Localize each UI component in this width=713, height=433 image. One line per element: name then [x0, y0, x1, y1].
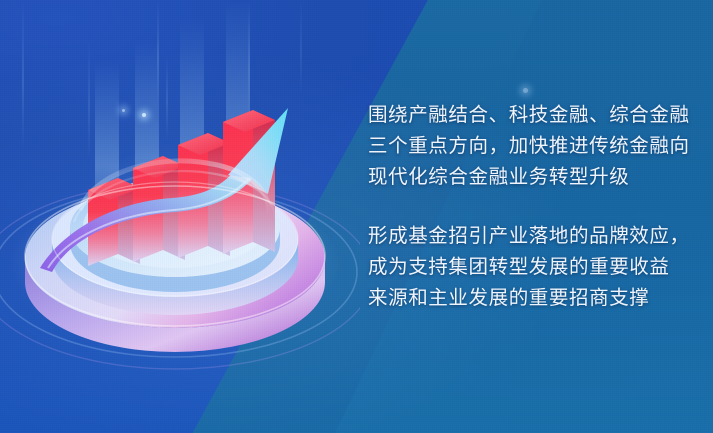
paragraph-1-line-1: 围绕产融结合、科技金融、综合金融: [368, 100, 698, 131]
paragraph-1: 围绕产融结合、科技金融、综合金融 三个重点方向，加快推进传统金融向 现代化综合金…: [368, 100, 698, 193]
banner-root: 围绕产融结合、科技金融、综合金融 三个重点方向，加快推进传统金融向 现代化综合金…: [0, 0, 713, 433]
copy-panel: 围绕产融结合、科技金融、综合金融 三个重点方向，加快推进传统金融向 现代化综合金…: [368, 100, 698, 314]
paragraph-2: 形成基金招引产业落地的品牌效应， 成为支持集团转型发展的重要收益 来源和主业发展…: [368, 221, 698, 314]
paragraph-1-line-3: 现代化综合金融业务转型升级: [368, 162, 698, 193]
paragraph-2-line-3: 来源和主业发展的重要招商支撑: [368, 283, 698, 314]
paragraph-2-line-1: 形成基金招引产业落地的品牌效应，: [368, 221, 698, 252]
growth-illustration: [0, 0, 360, 433]
paragraph-1-line-2: 三个重点方向，加快推进传统金融向: [368, 131, 698, 162]
paragraph-2-line-2: 成为支持集团转型发展的重要收益: [368, 252, 698, 283]
sparkle-dot-3: [523, 88, 528, 93]
